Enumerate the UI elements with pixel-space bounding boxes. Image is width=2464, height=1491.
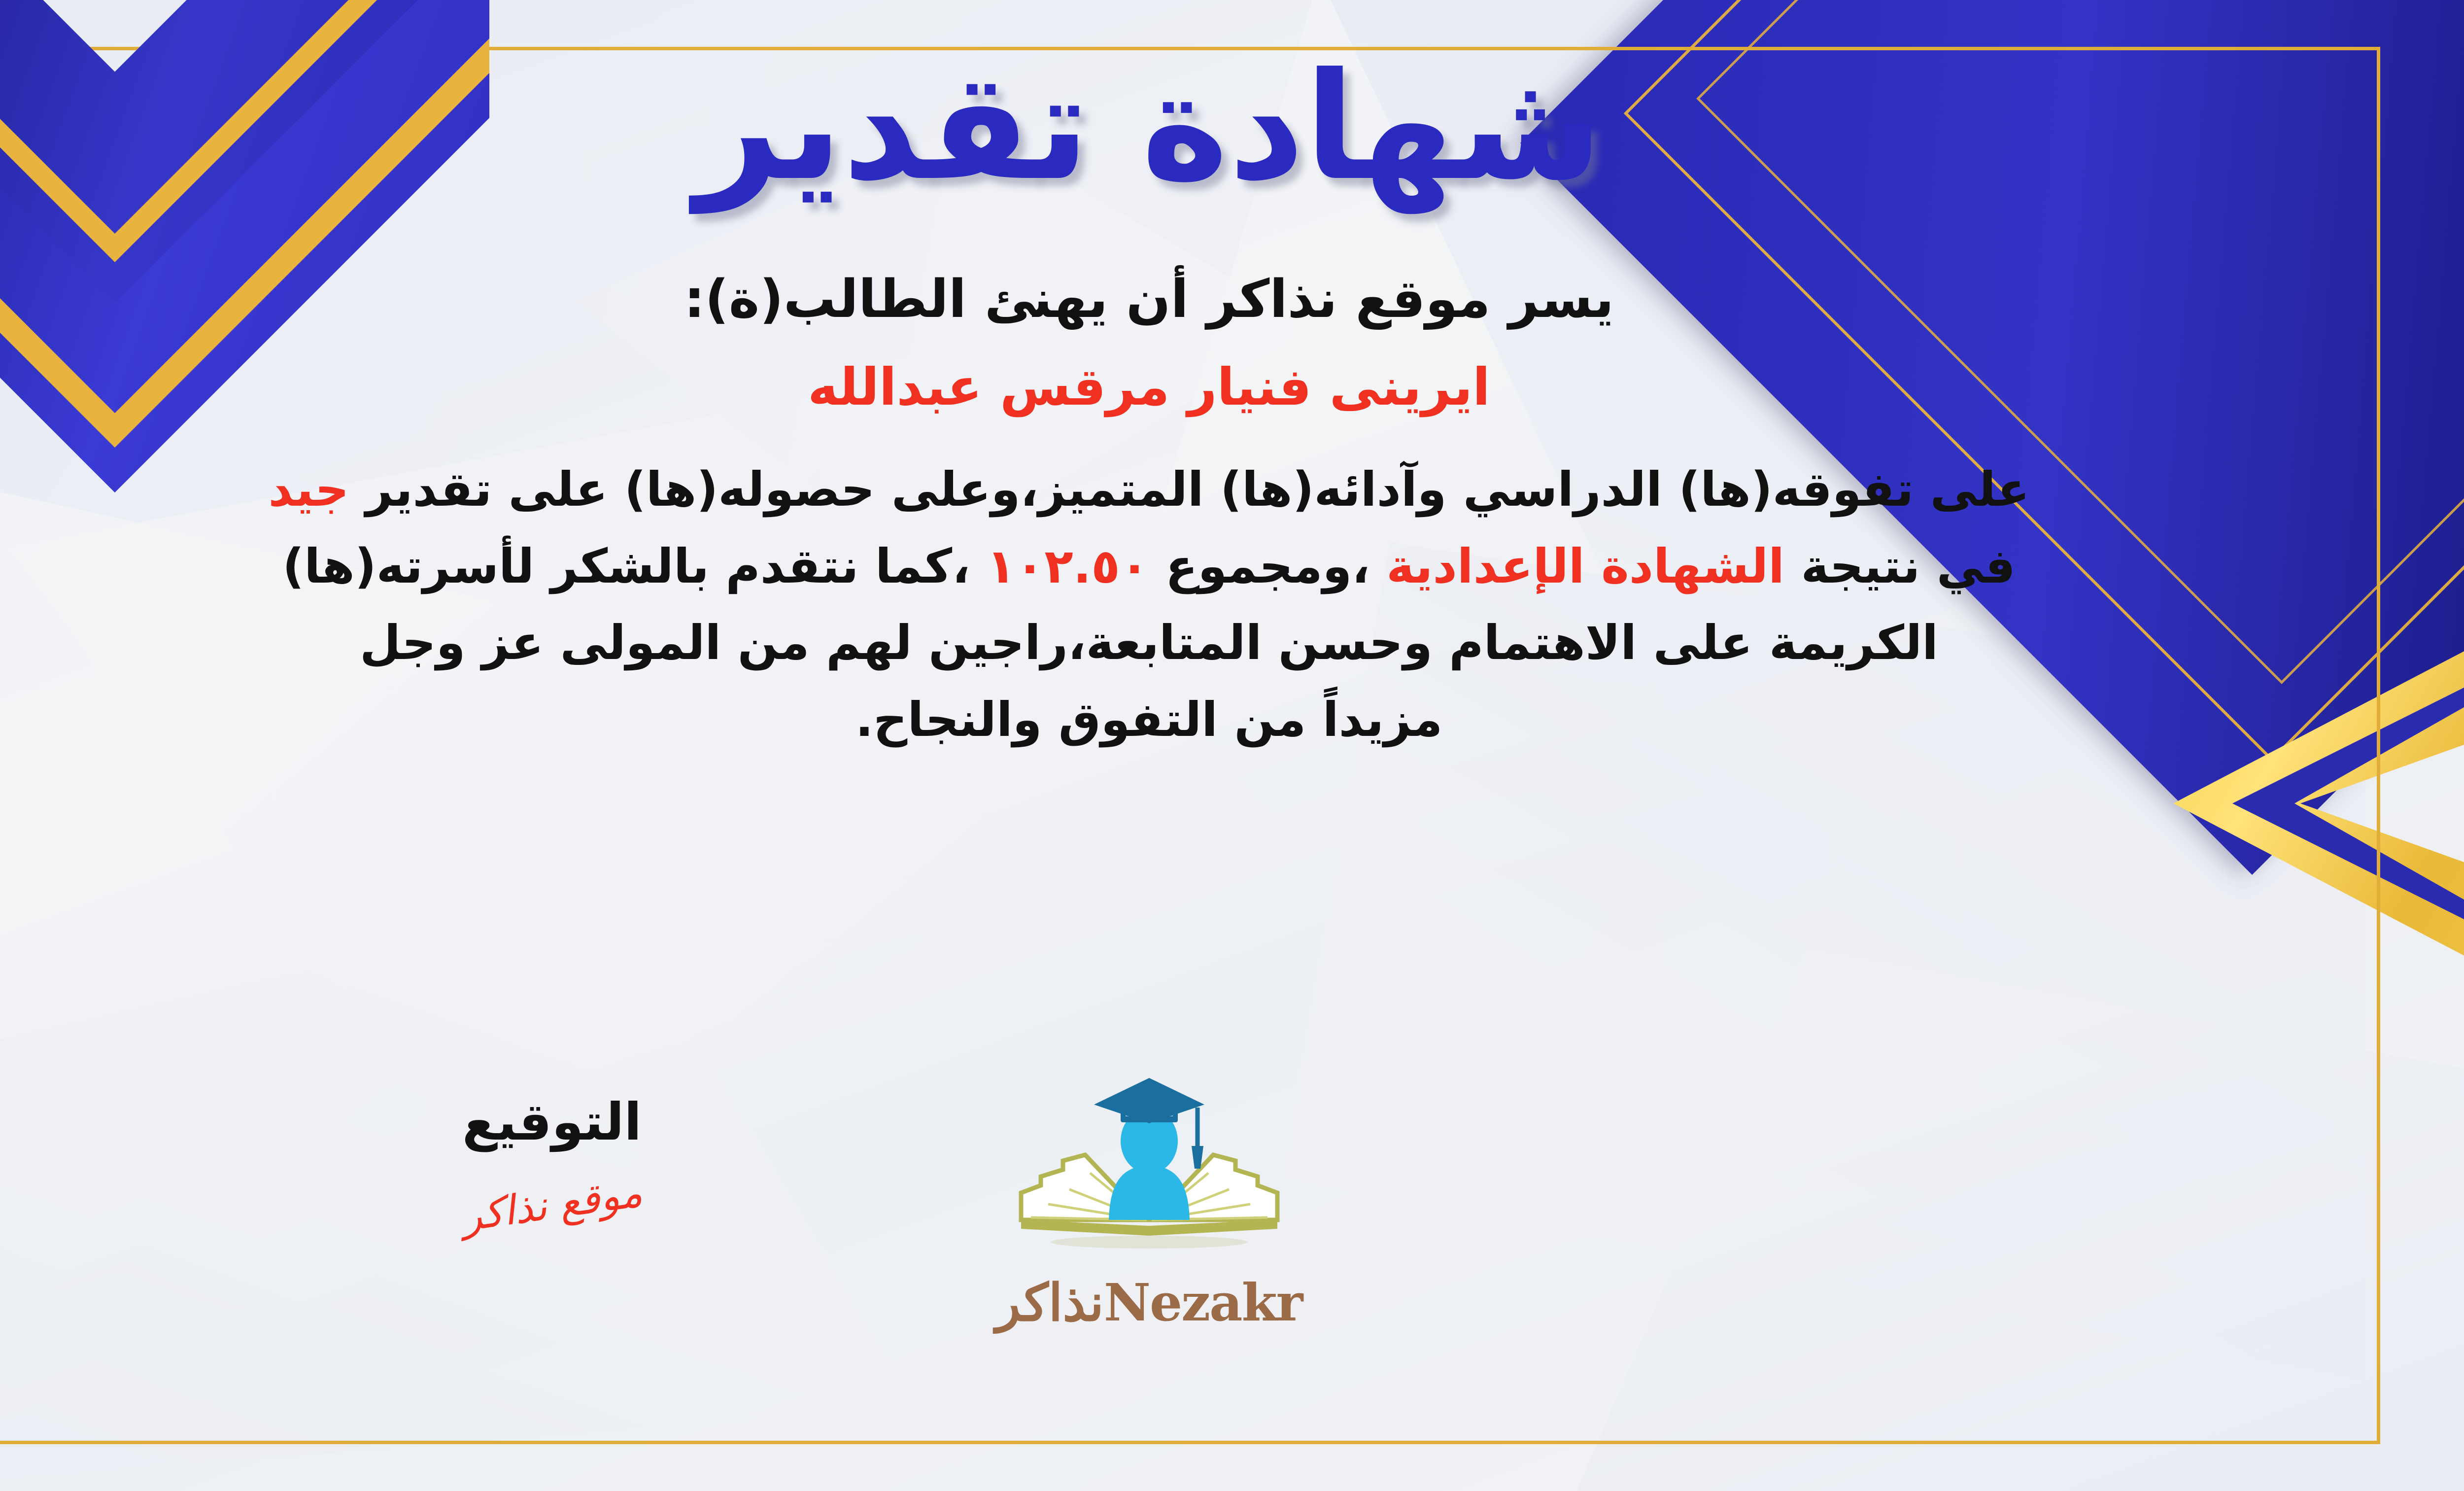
- exam-name: الشهادة الإعدادية: [1386, 539, 1784, 594]
- certificate-page: شهادة تقدير يسر موقع نذاكر أن يهنئ الطال…: [0, 0, 2464, 1491]
- achievement-line-2: في نتيجة الشهادة الإعدادية ،ومجموع ١٠٢.٥…: [0, 528, 2320, 605]
- result-prefix: في نتيجة: [1801, 539, 2016, 594]
- signature-mark: موقع نذاكر: [459, 1169, 645, 1241]
- signature-area: التوقيع موقع نذاكر: [330, 1092, 774, 1228]
- student-name: ايرينى فنيار مرقس عبدالله: [0, 357, 2464, 417]
- brand-logo-text: Nezakrنذاكر: [927, 1272, 1371, 1333]
- achievement-text-right: على تفوقه(ها) الدراسي وآدائه(ها) المتميز…: [366, 462, 2030, 517]
- total-label: ،ومجموع: [1165, 539, 1370, 594]
- grade-value: جيد: [269, 462, 349, 517]
- certificate-title: شهادة تقدير: [0, 49, 2464, 205]
- certificate-content: شهادة تقدير يسر موقع نذاكر أن يهنئ الطال…: [0, 0, 2464, 758]
- graduate-book-logo-icon: [1011, 1072, 1287, 1279]
- certificate-body: يسر موقع نذاكر أن يهنئ الطالب(ة): ايرينى…: [0, 269, 2464, 758]
- achievement-line-4: مزيداً من التفوق والنجاح.: [0, 682, 2320, 759]
- achievement-paragraph: على تفوقه(ها) الدراسي وآدائه(ها) المتميز…: [0, 451, 2320, 758]
- signature-label: التوقيع: [330, 1092, 774, 1152]
- achievement-line-3: الكريمة على الاهتمام وحسن المتابعة،راجين…: [0, 605, 2320, 682]
- achievement-line-1: على تفوقه(ها) الدراسي وآدائه(ها) المتميز…: [0, 451, 2320, 528]
- total-score: ١٠٢.٥٠: [987, 539, 1149, 594]
- certificate-footer: التوقيع موقع نذاكر: [0, 1092, 2464, 1397]
- intro-line: يسر موقع نذاكر أن يهنئ الطالب(ة):: [0, 269, 2464, 329]
- thanks-text: ،كما نتقدم بالشكر لأسرته(ها): [282, 539, 970, 594]
- brand-logo-area: Nezakrنذاكر: [927, 1072, 1371, 1333]
